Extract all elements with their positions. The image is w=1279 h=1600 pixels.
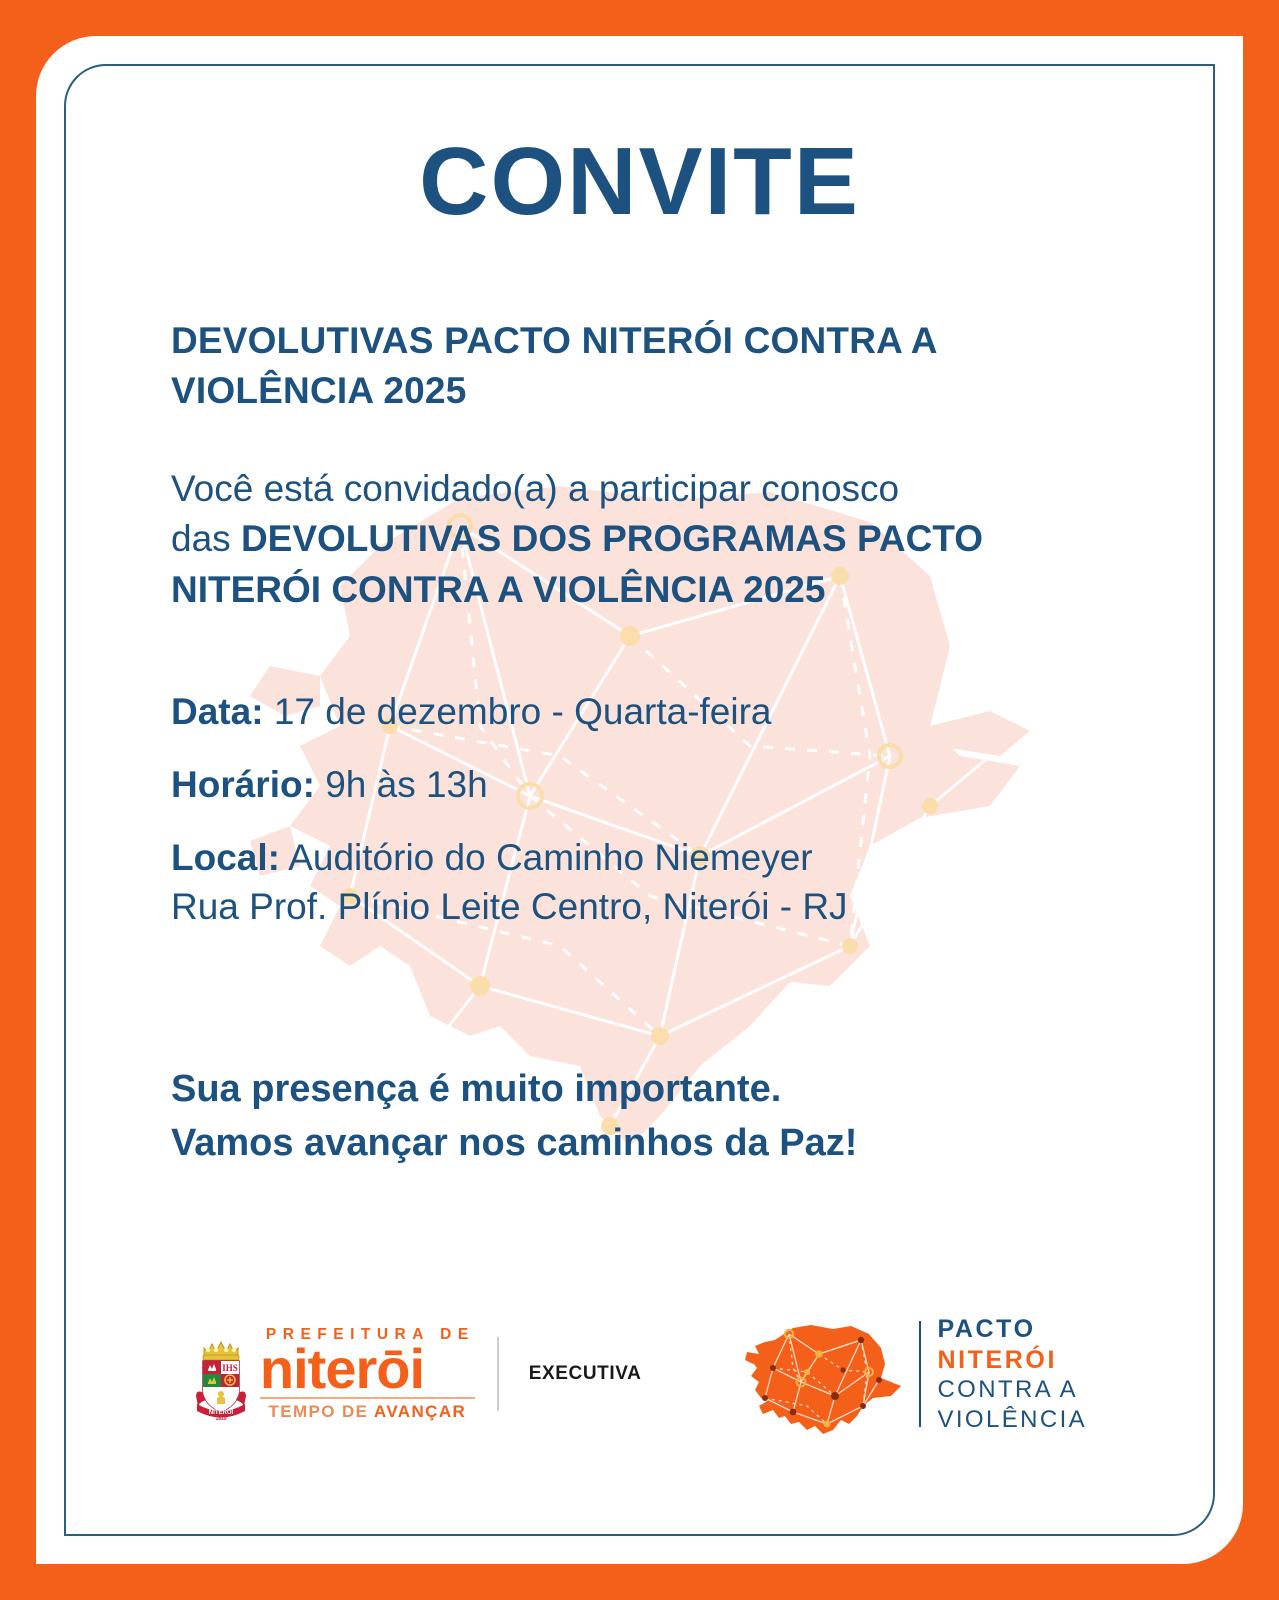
prefeitura-wordmark: PREFEITURA DE niterōi TEMPO DE AVANÇAR: [260, 1326, 475, 1421]
intro-line-3-bold: NITERÓI CONTRA A VIOLÊNCIA 2025: [171, 569, 825, 610]
pacto-wordmark: PACTO NITERÓI CONTRA A VIOLÊNCIA: [937, 1314, 1087, 1434]
footer-logos: IHS NITERÓI 1819 PREFEITURA DE: [36, 1312, 1243, 1436]
prefeitura-main-label: niterōi: [260, 1345, 475, 1392]
invitation-paragraph: Você está convidado(a) a participar cono…: [171, 416, 1171, 615]
pacto-map-icon: [745, 1312, 903, 1436]
detail-date: Data: 17 de dezembro - Quarta-feira: [171, 693, 1171, 730]
detail-place: Local: Auditório do Caminho Niemeyer Rua…: [171, 839, 1171, 925]
prefeitura-rule: [260, 1397, 475, 1399]
event-details: Data: 17 de dezembro - Quarta-feira Horá…: [171, 615, 1171, 925]
closing-line-2: Vamos avançar nos caminhos da Paz!: [171, 1117, 1207, 1171]
pacto-divider: [919, 1321, 921, 1427]
coat-of-arms-icon: IHS NITERÓI 1819: [192, 1328, 250, 1420]
page-title: CONVITE: [72, 36, 1207, 230]
date-label: Data:: [171, 691, 264, 732]
time-value: 9h às 13h: [325, 764, 488, 805]
intro-line-2-bold: DEVOLUTIVAS DOS PROGRAMAS PACTO: [241, 518, 983, 559]
white-panel: CONVITE DEVOLUTIVAS PACTO NITERÓI CONTRA…: [36, 36, 1243, 1564]
place-address: Rua Prof. Plínio Leite Centro, Niterói -…: [171, 888, 1171, 925]
pacto-line-3: CONTRA A: [937, 1375, 1087, 1404]
intro-line-1: Você está convidado(a) a participar cono…: [171, 468, 899, 509]
prefeitura-tagline: TEMPO DE AVANÇAR: [260, 1402, 475, 1422]
place-value: Auditório do Caminho Niemeyer: [288, 837, 812, 878]
intro-line-2-plain: das: [171, 518, 241, 559]
coat-of-arms-year-text: 1819: [215, 1416, 226, 1420]
pacto-line-4: VIOLÊNCIA: [937, 1405, 1087, 1434]
detail-time: Horário: 9h às 13h: [171, 766, 1171, 803]
closing-line-1: Sua presença é muito importante.: [171, 1063, 1207, 1117]
svg-text:IHS: IHS: [222, 1363, 238, 1373]
place-label: Local:: [171, 837, 280, 878]
executiva-label: EXECUTIVA: [529, 1363, 642, 1385]
event-subject: DEVOLUTIVAS PACTO NITERÓI CONTRA A VIOLÊ…: [171, 230, 1131, 416]
tagline-light: TEMPO DE: [268, 1402, 373, 1421]
prefeitura-niteroi-logo: IHS NITERÓI 1819 PREFEITURA DE: [192, 1326, 642, 1421]
executiva-divider: [497, 1337, 499, 1411]
pacto-niteroi-logo: PACTO NITERÓI CONTRA A VIOLÊNCIA: [745, 1312, 1087, 1436]
time-label: Horário:: [171, 764, 315, 805]
tagline-bold: AVANÇAR: [374, 1402, 466, 1421]
pacto-line-1: PACTO: [937, 1314, 1087, 1345]
coat-of-arms-ribbon-text: NITERÓI: [209, 1408, 234, 1416]
closing-message: Sua presença é muito importante. Vamos a…: [171, 961, 1207, 1171]
pacto-line-2: NITERÓI: [937, 1345, 1087, 1376]
invitation-poster: CONVITE DEVOLUTIVAS PACTO NITERÓI CONTRA…: [0, 0, 1279, 1600]
date-value: 17 de dezembro - Quarta-feira: [274, 691, 772, 732]
